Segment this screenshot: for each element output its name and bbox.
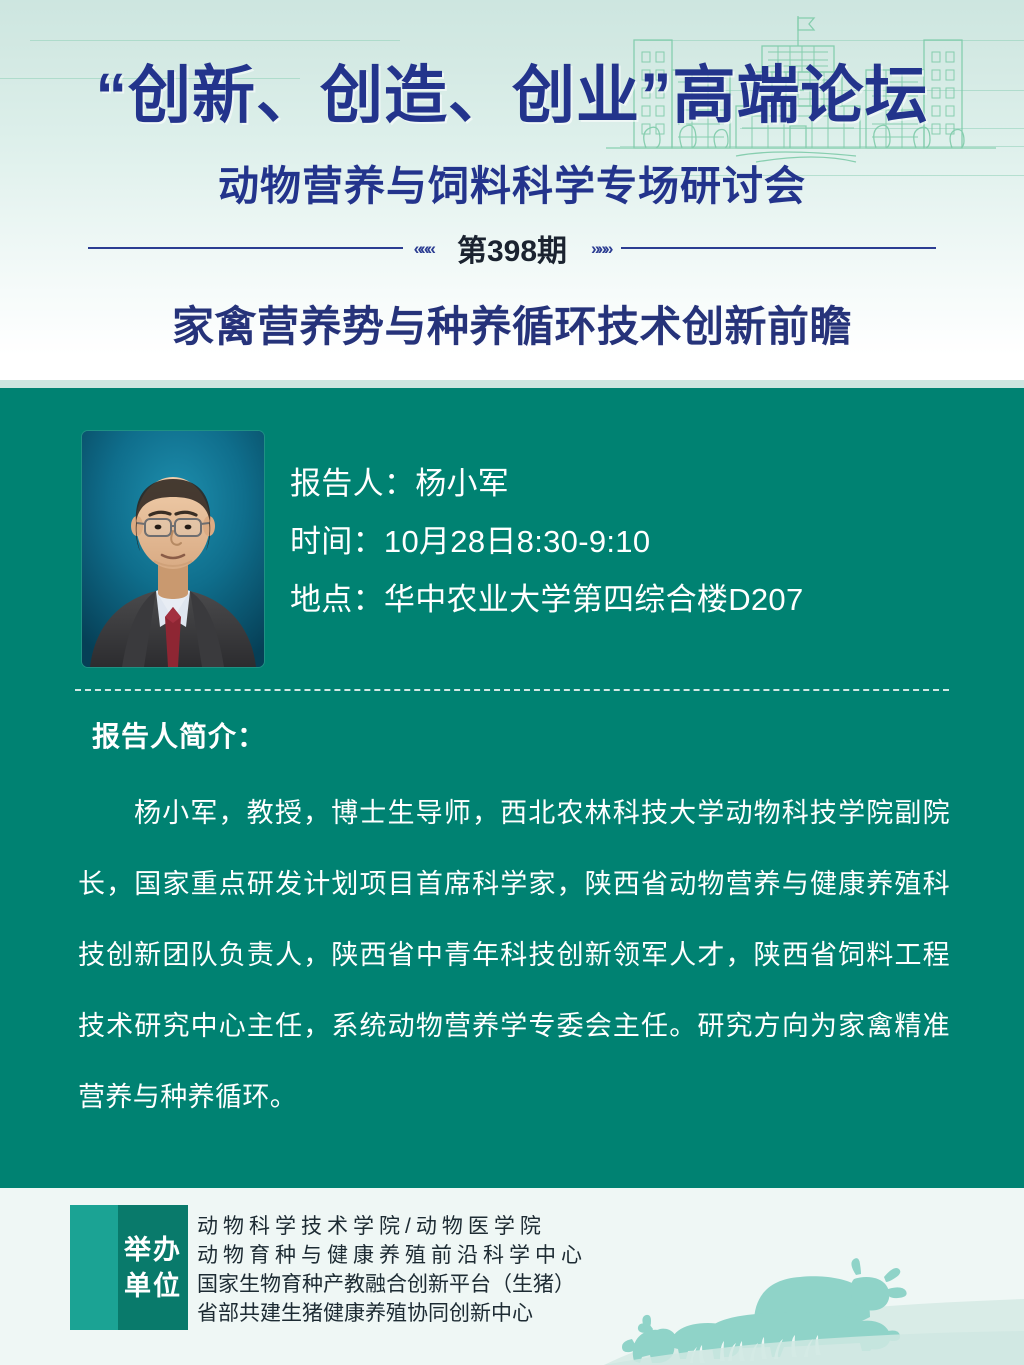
- list-item: 动物育种与健康养殖前沿科学中心: [197, 1241, 717, 1270]
- talk-details: 报告人：杨小军 时间：10月28日8:30-9:10 地点：华中农业大学第四综合…: [290, 455, 950, 629]
- organizer-list: 动物科学技术学院/动物医学院 动物育种与健康养殖前沿科学中心 国家生物育种产教融…: [197, 1212, 717, 1328]
- dashed-divider: [75, 689, 949, 691]
- chevron-left-icon: «««: [414, 240, 433, 257]
- event-poster: “创新、创造、创业”高端论坛 动物营养与饲料科学专场研讨会 ««« 第398期 …: [0, 0, 1024, 1365]
- organizer-badge-line-2: 单位: [124, 1268, 182, 1304]
- divider-line-left: [88, 247, 403, 249]
- page-subtitle: 动物营养与饲料科学专场研讨会: [0, 152, 1024, 212]
- poster-header: “创新、创造、创业”高端论坛 动物营养与饲料科学专场研讨会 ««« 第398期 …: [0, 0, 1024, 386]
- divider-line-right: [621, 247, 936, 249]
- list-item: 省部共建生猪健康养殖协同创新中心: [197, 1299, 717, 1328]
- venue-line: 地点：华中农业大学第四综合楼D207: [290, 571, 950, 629]
- organizer-badge-label: 举办 单位: [118, 1205, 188, 1330]
- list-item: 国家生物育种产教融合创新平台（生猪）: [197, 1270, 717, 1299]
- chevron-right-icon: »»»: [591, 240, 610, 257]
- bio-heading: 报告人简介：: [92, 715, 266, 755]
- bio-text: 杨小军，教授，博士生导师，西北农林科技大学动物科技学院副院长，国家重点研发计划项…: [78, 778, 950, 1133]
- organizer-badge-accent: [70, 1205, 118, 1330]
- section-separator-strip: [0, 380, 1024, 388]
- avatar: [82, 431, 264, 667]
- speaker-portrait-icon: [82, 431, 264, 667]
- speaker-line: 报告人：杨小军: [290, 455, 950, 513]
- issue-divider: ««« 第398期 »»»: [88, 228, 936, 268]
- organizer-badge-line-1: 举办: [124, 1232, 182, 1268]
- talk-topic-title: 家禽营养势与种养循环技术创新前瞻: [0, 293, 1024, 354]
- list-item: 动物科学技术学院/动物医学院: [197, 1212, 717, 1241]
- issue-number: 第398期: [444, 226, 580, 270]
- time-line: 时间：10月28日8:30-9:10: [290, 513, 950, 571]
- page-title: “创新、创造、创业”高端论坛: [0, 63, 1024, 129]
- organizer-badge: 举办 单位: [70, 1205, 188, 1330]
